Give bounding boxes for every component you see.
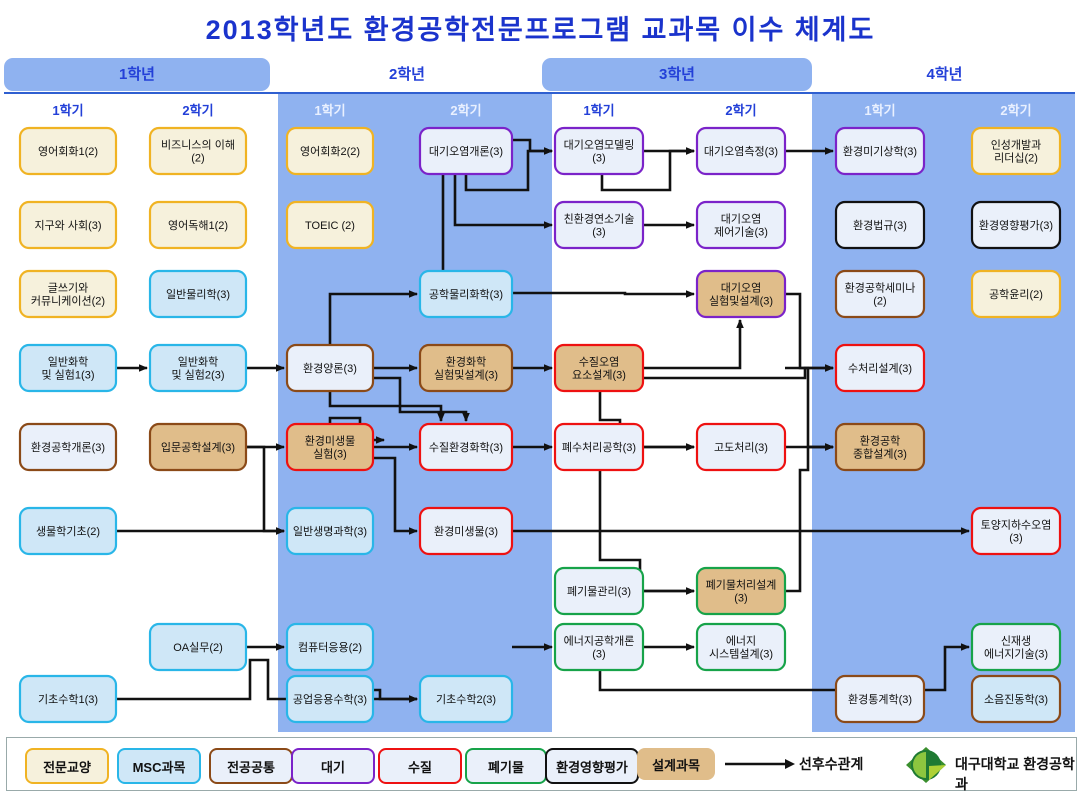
course-label: 대기오염 <box>721 282 761 295</box>
legend-arrow-icon <box>725 756 797 772</box>
course-node[interactable]: 영어회화1(2) <box>20 128 116 174</box>
course-label: 일반화학 <box>178 355 218 369</box>
course-node[interactable]: 지구와 사회(3) <box>20 202 116 248</box>
course-label: 시스템설계(3) <box>709 648 773 661</box>
course-label: (3) <box>592 153 605 165</box>
course-node[interactable]: 환경공학개론(3) <box>20 424 116 470</box>
course-node[interactable]: 입문공학설계(3) <box>150 424 246 470</box>
course-node[interactable]: 환경공학종합설계(3) <box>836 424 924 470</box>
course-node[interactable]: 에너지공학개론(3) <box>555 624 643 670</box>
legend: 전문교양MSC과목전공공통대기수질폐기물환경영향평가설계과목 선후수관계 대구대… <box>6 737 1077 791</box>
course-node[interactable]: 생물학기초(2) <box>20 508 116 554</box>
course-node-layer: 영어회화1(2)지구와 사회(3)글쓰기와커뮤니케이션(2)일반화학및 실험1(… <box>0 0 1081 794</box>
department-label: 대구대학교 환경공학과 <box>955 754 1076 794</box>
course-label: 소음진동학(3) <box>984 693 1048 706</box>
course-node[interactable]: OA실무(2) <box>150 624 246 670</box>
course-label: 기초수학1(3) <box>38 693 98 706</box>
course-label: 커뮤니케이션(2) <box>31 295 105 308</box>
course-label: 일반물리학(3) <box>166 287 230 301</box>
course-label: 에너지공학개론 <box>564 635 635 648</box>
university-logo-icon <box>905 746 947 784</box>
course-node[interactable]: 인성개발과리더십(2) <box>972 128 1060 174</box>
course-node[interactable]: 대기오염실험및설계(3) <box>697 271 785 317</box>
course-node[interactable]: 기초수학2(3) <box>420 676 512 722</box>
course-label: 실험및설계(3) <box>709 295 773 308</box>
course-node[interactable]: TOEIC (2) <box>287 202 373 248</box>
course-label: (2) <box>191 153 204 165</box>
course-label: OA실무(2) <box>173 641 223 654</box>
course-label: 폐기물처리설계 <box>706 579 777 592</box>
course-label: 환경화학 <box>446 356 486 369</box>
course-label: (2) <box>873 296 886 308</box>
course-label: 지구와 사회(3) <box>34 219 101 232</box>
course-node[interactable]: 환경통계학(3) <box>836 676 924 722</box>
course-node[interactable]: 수질오염요소설계(3) <box>555 345 643 391</box>
course-node[interactable]: 비즈니스의 이해(2) <box>150 128 246 174</box>
course-label: 비즈니스의 이해 <box>161 138 235 152</box>
course-label: (3) <box>592 649 605 661</box>
course-label: 영어독해1(2) <box>168 218 228 232</box>
course-node[interactable]: 소음진동학(3) <box>972 676 1060 722</box>
course-node[interactable]: 환경미생물실험(3) <box>287 424 373 470</box>
course-label: 대기오염측정(3) <box>704 145 778 158</box>
course-label: 및 실험1(3) <box>42 369 95 382</box>
course-label: 환경미생물 <box>305 435 356 448</box>
course-label: 신재생 <box>1001 635 1031 648</box>
course-label: 수질환경화학(3) <box>429 441 503 454</box>
course-label: 환경영향평가(3) <box>979 219 1053 232</box>
course-node[interactable]: 대기오염개론(3) <box>420 128 512 174</box>
course-label: 공학물리화학(3) <box>429 288 503 301</box>
course-label: 종합설계(3) <box>853 448 907 461</box>
course-node[interactable]: 환경미생물(3) <box>420 508 512 554</box>
course-label: 기초수학2(3) <box>436 693 496 706</box>
course-node[interactable]: 글쓰기와커뮤니케이션(2) <box>20 271 116 317</box>
course-label: 토양지하수오염 <box>981 518 1052 532</box>
course-label: 친환경연소기술 <box>564 213 635 226</box>
course-node[interactable]: 신재생에너지기술(3) <box>972 624 1060 670</box>
course-label: 고도처리(3) <box>714 441 768 454</box>
course-label: 대기오염 <box>721 213 761 226</box>
course-label: 대기오염개론(3) <box>429 145 503 158</box>
legend-item: 환경영향평가 <box>545 748 639 784</box>
course-node[interactable]: 일반화학및 실험2(3) <box>150 345 246 391</box>
course-node[interactable]: 에너지시스템설계(3) <box>697 624 785 670</box>
course-label: 수처리설계(3) <box>848 362 912 375</box>
legend-item: 전공공통 <box>209 748 293 784</box>
course-node[interactable]: 폐수처리공학(3) <box>555 424 643 470</box>
course-label: 실험(3) <box>313 448 347 461</box>
course-node[interactable]: 친환경연소기술(3) <box>555 202 643 248</box>
course-node[interactable]: 일반화학및 실험1(3) <box>20 345 116 391</box>
course-label: 컴퓨터응용(2) <box>298 641 362 654</box>
course-node[interactable]: 환경공학세미나(2) <box>836 271 924 317</box>
course-label: 및 실험2(3) <box>172 369 225 382</box>
course-label: 입문공학설계(3) <box>161 441 235 454</box>
course-node[interactable]: 환경법규(3) <box>836 202 924 248</box>
course-label: 환경공학 <box>860 435 900 448</box>
legend-item: 전문교양 <box>25 748 109 784</box>
course-label: 수질오염 <box>579 356 619 369</box>
course-label: 제어기술(3) <box>714 226 768 239</box>
course-node[interactable]: 환경영향평가(3) <box>972 202 1060 248</box>
course-node[interactable]: 공학윤리(2) <box>972 271 1060 317</box>
course-label: 폐수처리공학(3) <box>562 441 636 454</box>
course-node[interactable]: 컴퓨터응용(2) <box>287 624 373 670</box>
course-label: 대기오염모델링 <box>564 139 635 152</box>
course-node[interactable]: 환경양론(3) <box>287 345 373 391</box>
course-label: 환경통계학(3) <box>848 693 912 706</box>
course-node[interactable]: 일반생명과학(3) <box>287 508 373 554</box>
course-label: 글쓰기와 <box>48 282 88 295</box>
course-label: 일반화학 <box>48 355 88 369</box>
course-node[interactable]: 수처리설계(3) <box>836 345 924 391</box>
course-label: 영어회화1(2) <box>38 145 98 158</box>
course-label: (3) <box>734 593 747 605</box>
course-node[interactable]: 일반물리학(3) <box>150 271 246 317</box>
course-node[interactable]: 대기오염측정(3) <box>697 128 785 174</box>
course-label: 일반생명과학(3) <box>293 524 367 538</box>
course-label: 영어회화2(2) <box>300 145 360 158</box>
course-node[interactable]: 공업응용수학(3) <box>287 676 373 722</box>
course-node[interactable]: 환경화학실험및설계(3) <box>420 345 512 391</box>
legend-item: MSC과목 <box>117 748 201 784</box>
course-label: 요소설계(3) <box>572 369 626 382</box>
course-label: 환경미생물(3) <box>434 525 498 538</box>
course-label: 환경공학개론(3) <box>31 441 105 454</box>
course-label: 공업응용수학(3) <box>293 693 367 706</box>
course-node[interactable]: 대기오염모델링(3) <box>555 128 643 174</box>
course-node[interactable]: 수질환경화학(3) <box>420 424 512 470</box>
legend-relation-label: 선후수관계 <box>799 754 863 774</box>
course-label: 리더십(2) <box>994 152 1038 165</box>
legend-item: 설계과목 <box>637 748 715 780</box>
course-node[interactable]: 영어회화2(2) <box>287 128 373 174</box>
legend-item: 대기 <box>291 748 375 784</box>
course-label: 에너지기술(3) <box>984 648 1048 661</box>
course-node[interactable]: 대기오염제어기술(3) <box>697 202 785 248</box>
course-label: 폐기물관리(3) <box>567 585 631 598</box>
course-node[interactable]: 폐기물처리설계(3) <box>697 568 785 614</box>
course-label: 실험및설계(3) <box>434 369 498 382</box>
course-label: 공학윤리(2) <box>989 288 1043 301</box>
course-label: 생물학기초(2) <box>36 525 100 538</box>
course-node[interactable]: 고도처리(3) <box>697 424 785 470</box>
legend-item: 폐기물 <box>465 748 547 784</box>
course-label: 환경공학세미나 <box>845 282 916 295</box>
legend-item: 수질 <box>378 748 462 784</box>
course-label: 환경법규(3) <box>853 219 907 232</box>
course-label: (3) <box>1009 533 1022 545</box>
course-node[interactable]: 환경미기상학(3) <box>836 128 924 174</box>
course-label: 환경양론(3) <box>303 362 357 375</box>
course-label: 환경미기상학(3) <box>843 145 917 158</box>
course-label: 에너지 <box>726 635 756 648</box>
course-node[interactable]: 폐기물관리(3) <box>555 568 643 614</box>
course-label: TOEIC (2) <box>305 220 355 232</box>
course-label: 인성개발과 <box>991 139 1042 152</box>
course-node[interactable]: 기초수학1(3) <box>20 676 116 722</box>
course-label: (3) <box>592 227 605 239</box>
course-node[interactable]: 토양지하수오염(3) <box>972 508 1060 554</box>
course-node[interactable]: 공학물리화학(3) <box>420 271 512 317</box>
course-node[interactable]: 영어독해1(2) <box>150 202 246 248</box>
